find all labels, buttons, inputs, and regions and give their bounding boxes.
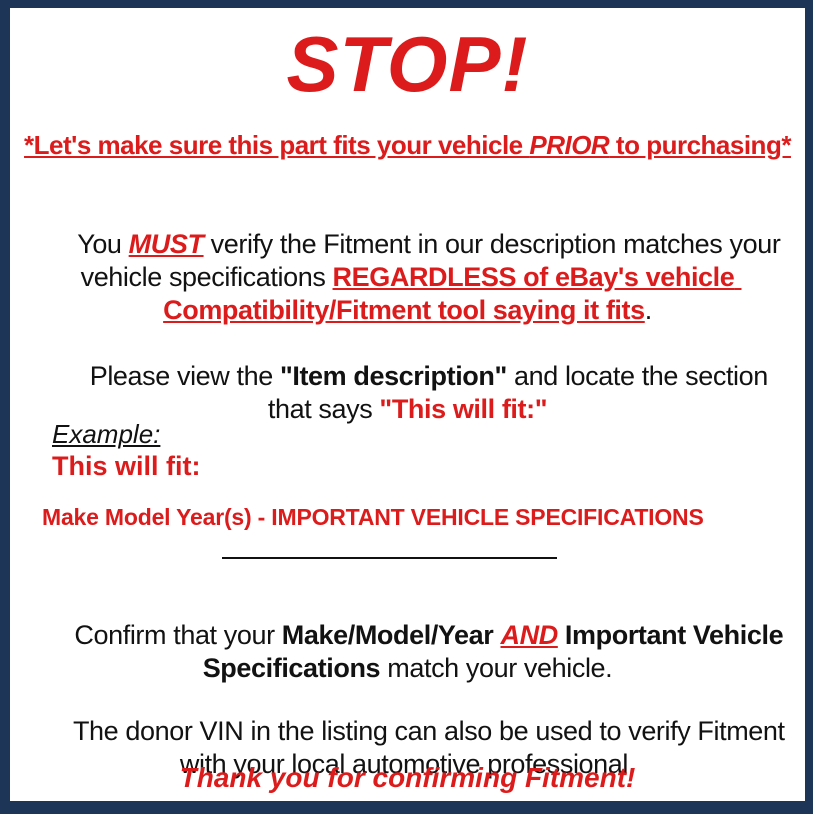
and-emphasis: AND — [501, 620, 558, 650]
make-model-year-emphasis: Make/Model/Year — [282, 620, 494, 650]
frame-border-top — [0, 0, 813, 8]
tagline-suffix: to purchasing* — [609, 130, 791, 160]
frame-border-left — [0, 0, 10, 814]
confirm-space-1 — [493, 620, 500, 650]
must-text-3: . — [645, 295, 652, 325]
notice-content-area: STOP! *Let's make sure this part fits yo… — [10, 8, 805, 801]
must-text-1: You — [77, 229, 128, 259]
must-emphasis: MUST — [129, 229, 204, 259]
tagline-prefix: *Let's make sure this part fits your veh… — [24, 130, 529, 160]
itemdesc-text-1: Please view the — [90, 361, 280, 391]
example-spec-line: Make Model Year(s) - IMPORTANT VEHICLE S… — [10, 503, 805, 531]
confirm-text-2: match your vehicle. — [380, 653, 612, 683]
stop-headline: STOP! — [10, 22, 805, 106]
frame-border-right — [805, 0, 813, 814]
item-description-emphasis: "Item description" — [280, 361, 507, 391]
thank-you-message: Thank you for confirming Fitment! — [10, 761, 805, 795]
tagline-emphasis-prior: PRIOR — [529, 130, 609, 160]
example-this-will-fit: This will fit: — [10, 449, 805, 483]
fitment-notice-page: STOP! *Let's make sure this part fits yo… — [0, 0, 813, 814]
tagline: *Let's make sure this part fits your veh… — [10, 129, 805, 161]
divider-rule — [222, 557, 557, 559]
confirm-space-2 — [558, 620, 565, 650]
example-block: Example: This will fit: Make Model Year(… — [10, 419, 805, 531]
confirm-text-1: Confirm that your — [74, 620, 281, 650]
example-label: Example: — [10, 419, 805, 449]
